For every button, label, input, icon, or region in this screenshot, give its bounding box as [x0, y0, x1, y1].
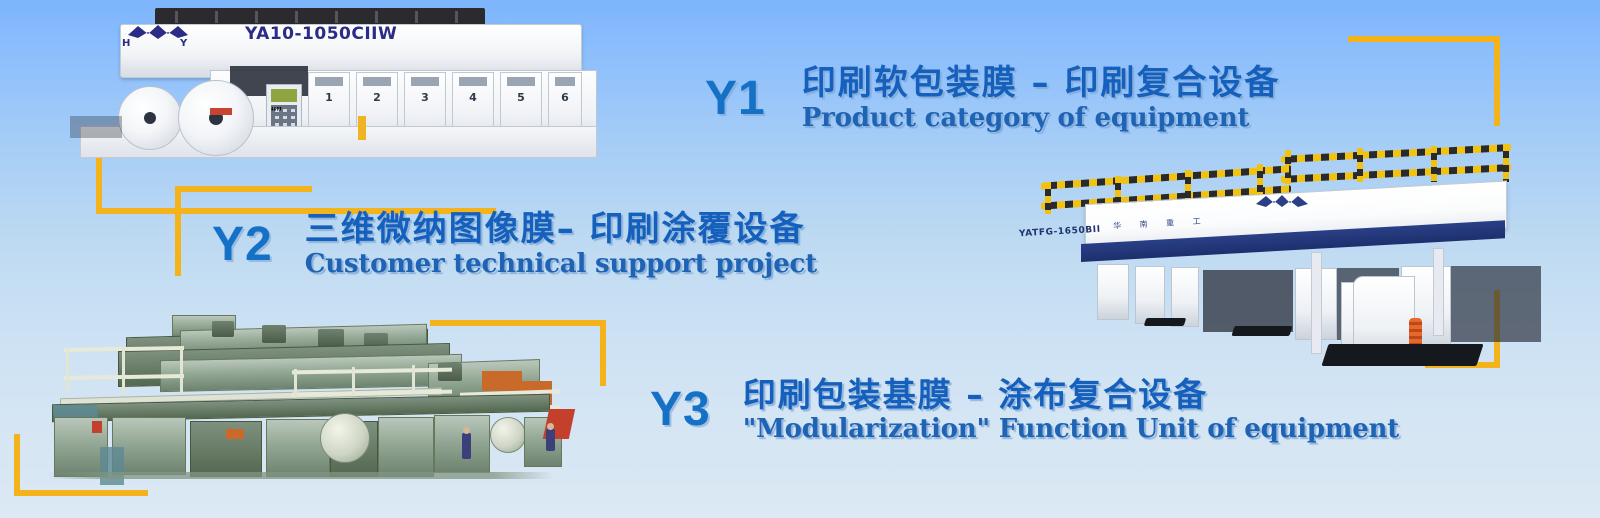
- m2-roller-bank: [1451, 266, 1541, 342]
- bracket-y1-right-vertical: [1494, 36, 1500, 126]
- svg-text:Y: Y: [179, 38, 188, 48]
- m2-support-leg: [1433, 248, 1444, 336]
- machine-paper-coating-production-line: [30, 305, 575, 485]
- entry-y1-title-cn: 印刷软包装膜 – 印刷复合设备: [802, 66, 1281, 102]
- m2-rail-post: [1503, 144, 1509, 182]
- entry-y2-title-cn: 三维微纳图像膜– 印刷涂覆设备: [305, 212, 817, 248]
- m3-rail-post: [122, 347, 125, 393]
- entry-y1-subtitle-en: Product category of equipment: [802, 105, 1281, 132]
- m3-motor: [262, 325, 286, 343]
- m3-rail-post: [294, 369, 297, 397]
- svg-text:H: H: [122, 38, 130, 48]
- m1-unwind-reel: [118, 86, 182, 150]
- m3-rail-post: [66, 347, 69, 393]
- m3-operator: [462, 433, 471, 459]
- bracket-y3-right-vertical: [600, 320, 606, 386]
- m2-machine-skid: [1144, 318, 1187, 326]
- m3-coater-unit: [266, 419, 330, 477]
- m1-yellow-marker: [358, 116, 366, 140]
- m3-orange-panel: [482, 371, 522, 391]
- m2-cabinet: [1097, 264, 1129, 320]
- m3-reel-drum: [490, 417, 526, 453]
- m3-motor: [438, 363, 462, 381]
- m3-rail-post: [412, 365, 415, 393]
- entry-y3: Y3 印刷包装基膜 – 涂布复合设备 "Modularization" Func…: [650, 378, 1399, 443]
- hy-brand-logo-icon: H Y: [118, 22, 198, 48]
- m1-model-label: YA10-1050CIIW: [245, 24, 397, 44]
- entry-y2: Y2 三维微纳图像膜– 印刷涂覆设备 Customer technical su…: [212, 212, 817, 278]
- machine-coating-laminating-line: YATFG-1650BII 华 南 重 工: [985, 148, 1530, 373]
- m3-rail-post: [180, 347, 183, 393]
- entry-y2-code: Y2: [212, 221, 273, 269]
- m3-operator: [546, 429, 555, 451]
- m3-rail-post: [352, 367, 355, 395]
- entry-y1-code: Y1: [705, 75, 766, 123]
- m3-reel-drum: [320, 413, 370, 463]
- m3-motor: [318, 329, 344, 347]
- entry-y2-subtitle-en: Customer technical support project: [305, 251, 817, 278]
- m3-floor-shadow: [48, 472, 553, 479]
- entry-y1: Y1 印刷软包装膜 – 印刷复合设备 Product category of e…: [705, 66, 1280, 132]
- m2-roller-bank: [1203, 270, 1293, 332]
- m2-machine-skid: [1231, 326, 1292, 336]
- m2-safety-rail: [1281, 144, 1511, 163]
- m2-safety-rail: [1041, 165, 1291, 189]
- m2-safety-rail: [1281, 164, 1511, 183]
- machine-rotogravure-printing-press: H Y YA10-1050CIIW 1 2 3 4 5 6: [60, 8, 595, 178]
- product-category-banner: H Y YA10-1050CIIW 1 2 3 4 5 6: [0, 0, 1600, 518]
- m3-red-marker: [92, 421, 102, 433]
- bracket-y3-left-vertical: [14, 434, 20, 496]
- m3-web-guide: [100, 447, 124, 485]
- entry-y3-title-cn: 印刷包装基膜 – 涂布复合设备: [743, 378, 1399, 413]
- bracket-y2-top-horizontal: [175, 186, 312, 192]
- entry-y3-subtitle-en: "Modularization" Function Unit of equipm…: [743, 416, 1399, 443]
- m3-orange-panel: [226, 429, 244, 439]
- bracket-y3-bottom-horizontal: [14, 490, 148, 496]
- m2-rail-post: [1045, 182, 1051, 214]
- m2-cabinet: [1135, 266, 1165, 324]
- m3-motor: [212, 321, 234, 337]
- m2-support-leg: [1311, 252, 1322, 354]
- m2-rail-post: [1431, 146, 1437, 182]
- entry-y3-code: Y3: [650, 386, 711, 434]
- bracket-y2-left-vertical: [175, 186, 181, 276]
- m3-coater-unit: [378, 417, 434, 477]
- m2-machine-skid: [1321, 344, 1483, 366]
- hy-brand-logo-icon: [1250, 192, 1312, 214]
- m1-shadow: [70, 116, 122, 138]
- bracket-y1-right-horizontal: [1348, 36, 1500, 42]
- m1-red-marker: [210, 108, 232, 115]
- m2-rail-post: [1357, 148, 1363, 182]
- m1-rewind-reel: [178, 80, 254, 156]
